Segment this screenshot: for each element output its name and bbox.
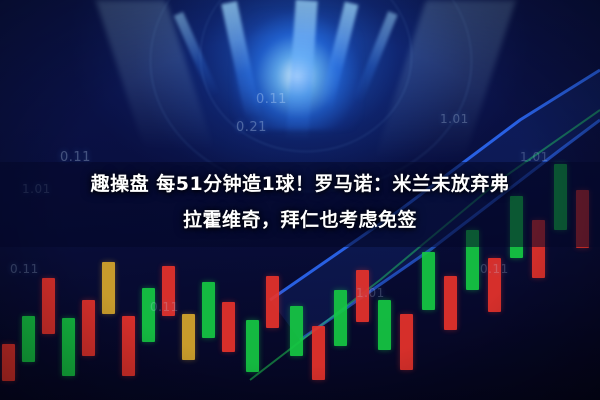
caption-line-1: 趣操盘 每51分钟造1球！罗马诺：米兰未放弃弗 <box>8 166 592 202</box>
candle-body <box>356 270 369 322</box>
candle-body <box>2 344 15 381</box>
candle-body <box>202 282 215 338</box>
candle-body <box>246 320 259 372</box>
caption-line-2: 拉霍维奇，拜仁也考虑免签 <box>8 202 592 238</box>
candle-body <box>42 278 55 334</box>
candle-body <box>222 302 235 352</box>
candle-body <box>122 316 135 376</box>
candle-body <box>22 316 35 362</box>
candle-body <box>422 252 435 310</box>
candle-body <box>266 276 279 328</box>
candle-body <box>142 288 155 342</box>
candle-body <box>488 258 501 312</box>
candle-body <box>182 314 195 360</box>
candle-body <box>162 266 175 316</box>
candle-body <box>444 276 457 330</box>
candle-body <box>334 290 347 346</box>
candle-body <box>82 300 95 356</box>
candle-body <box>62 318 75 376</box>
candle-body <box>102 262 115 314</box>
candle-body <box>400 314 413 370</box>
candle-body <box>312 326 325 380</box>
candle-body <box>378 300 391 350</box>
news-thumbnail-image: 0.111.010.110.210.111.011.010.111.010.11… <box>0 0 600 400</box>
caption-text: 趣操盘 每51分钟造1球！罗马诺：米兰未放弃弗 拉霍维奇，拜仁也考虑免签 <box>0 166 600 238</box>
candle-body <box>290 306 303 356</box>
